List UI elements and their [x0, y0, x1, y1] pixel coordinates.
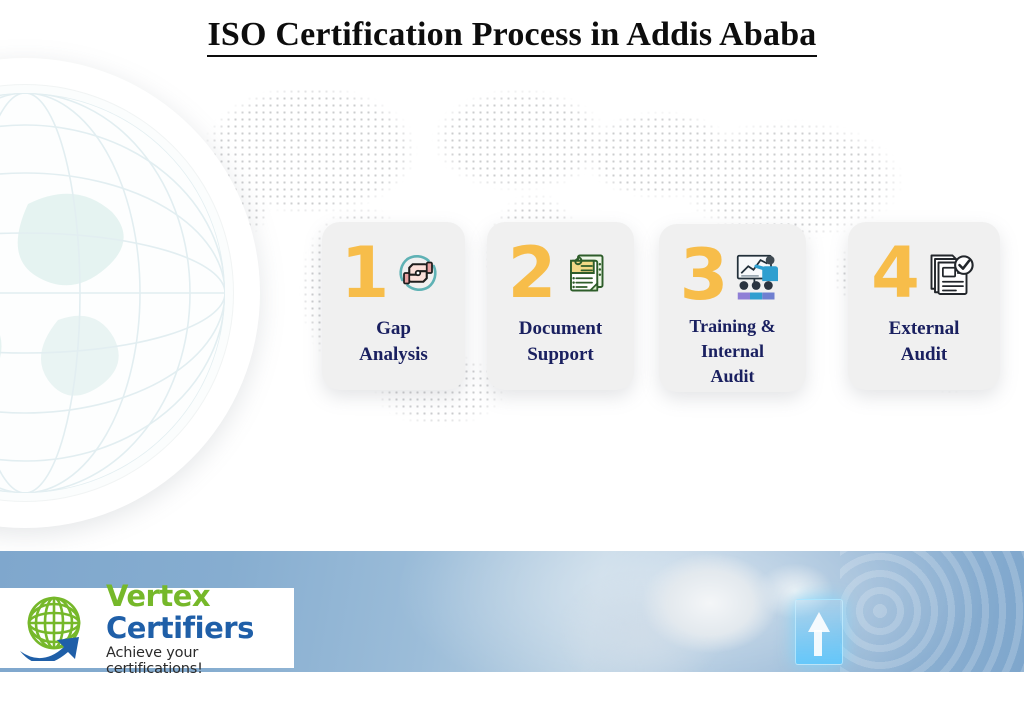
step-4-label-line2: Audit — [848, 342, 1000, 368]
documents-check-icon — [921, 245, 977, 301]
step-4-label: External Audit — [848, 316, 1000, 368]
handshake-teamwork-icon — [390, 245, 446, 301]
step-3-header: 3 — [659, 240, 806, 310]
step-card-4[interactable]: 4 — [848, 222, 1000, 390]
glowing-arrow-key-icon — [795, 599, 843, 665]
step-2-number: 2 — [508, 238, 554, 308]
document-clipboard-icon — [557, 245, 613, 301]
brand-tagline: Achieve your certifications! — [106, 645, 294, 677]
step-4-number: 4 — [871, 238, 917, 308]
step-3-label-line2: Internal — [659, 339, 806, 364]
training-presentation-icon — [729, 247, 785, 303]
step-3-label-line1: Training & — [659, 314, 806, 339]
brand-name: Vertex Certifiers — [106, 580, 294, 644]
step-2-header: 2 — [487, 238, 634, 308]
step-2-label: Document Support — [487, 316, 634, 368]
step-3-label: Training & Internal Audit — [659, 314, 806, 389]
step-3-number: 3 — [680, 240, 726, 310]
brand-logo-text: Vertex Certifiers Achieve your certifica… — [106, 580, 294, 677]
step-1-number: 1 — [341, 238, 387, 308]
process-steps: 1 Gap — [0, 0, 1024, 530]
step-2-label-line2: Support — [487, 342, 634, 368]
step-1-header: 1 — [322, 238, 465, 308]
step-card-2[interactable]: 2 — [487, 222, 634, 390]
brand-name-second: Certifiers — [106, 611, 254, 645]
infographic-canvas: ISO Certification Process in Addis Ababa — [0, 0, 1024, 724]
step-card-3[interactable]: 3 — [659, 224, 806, 392]
step-card-1[interactable]: 1 Gap — [322, 222, 465, 390]
step-4-header: 4 — [848, 238, 1000, 308]
step-2-label-line1: Document — [487, 316, 634, 342]
brand-logo[interactable]: Vertex Certifiers Achieve your certifica… — [0, 588, 294, 668]
step-4-label-line1: External — [848, 316, 1000, 342]
step-3-label-line3: Audit — [659, 364, 806, 389]
step-1-label-line2: Analysis — [322, 342, 465, 368]
step-1-label: Gap Analysis — [322, 316, 465, 368]
step-1-label-line1: Gap — [322, 316, 465, 342]
brand-name-first: Vertex — [106, 579, 210, 613]
globe-arrow-logo-icon — [14, 595, 98, 661]
